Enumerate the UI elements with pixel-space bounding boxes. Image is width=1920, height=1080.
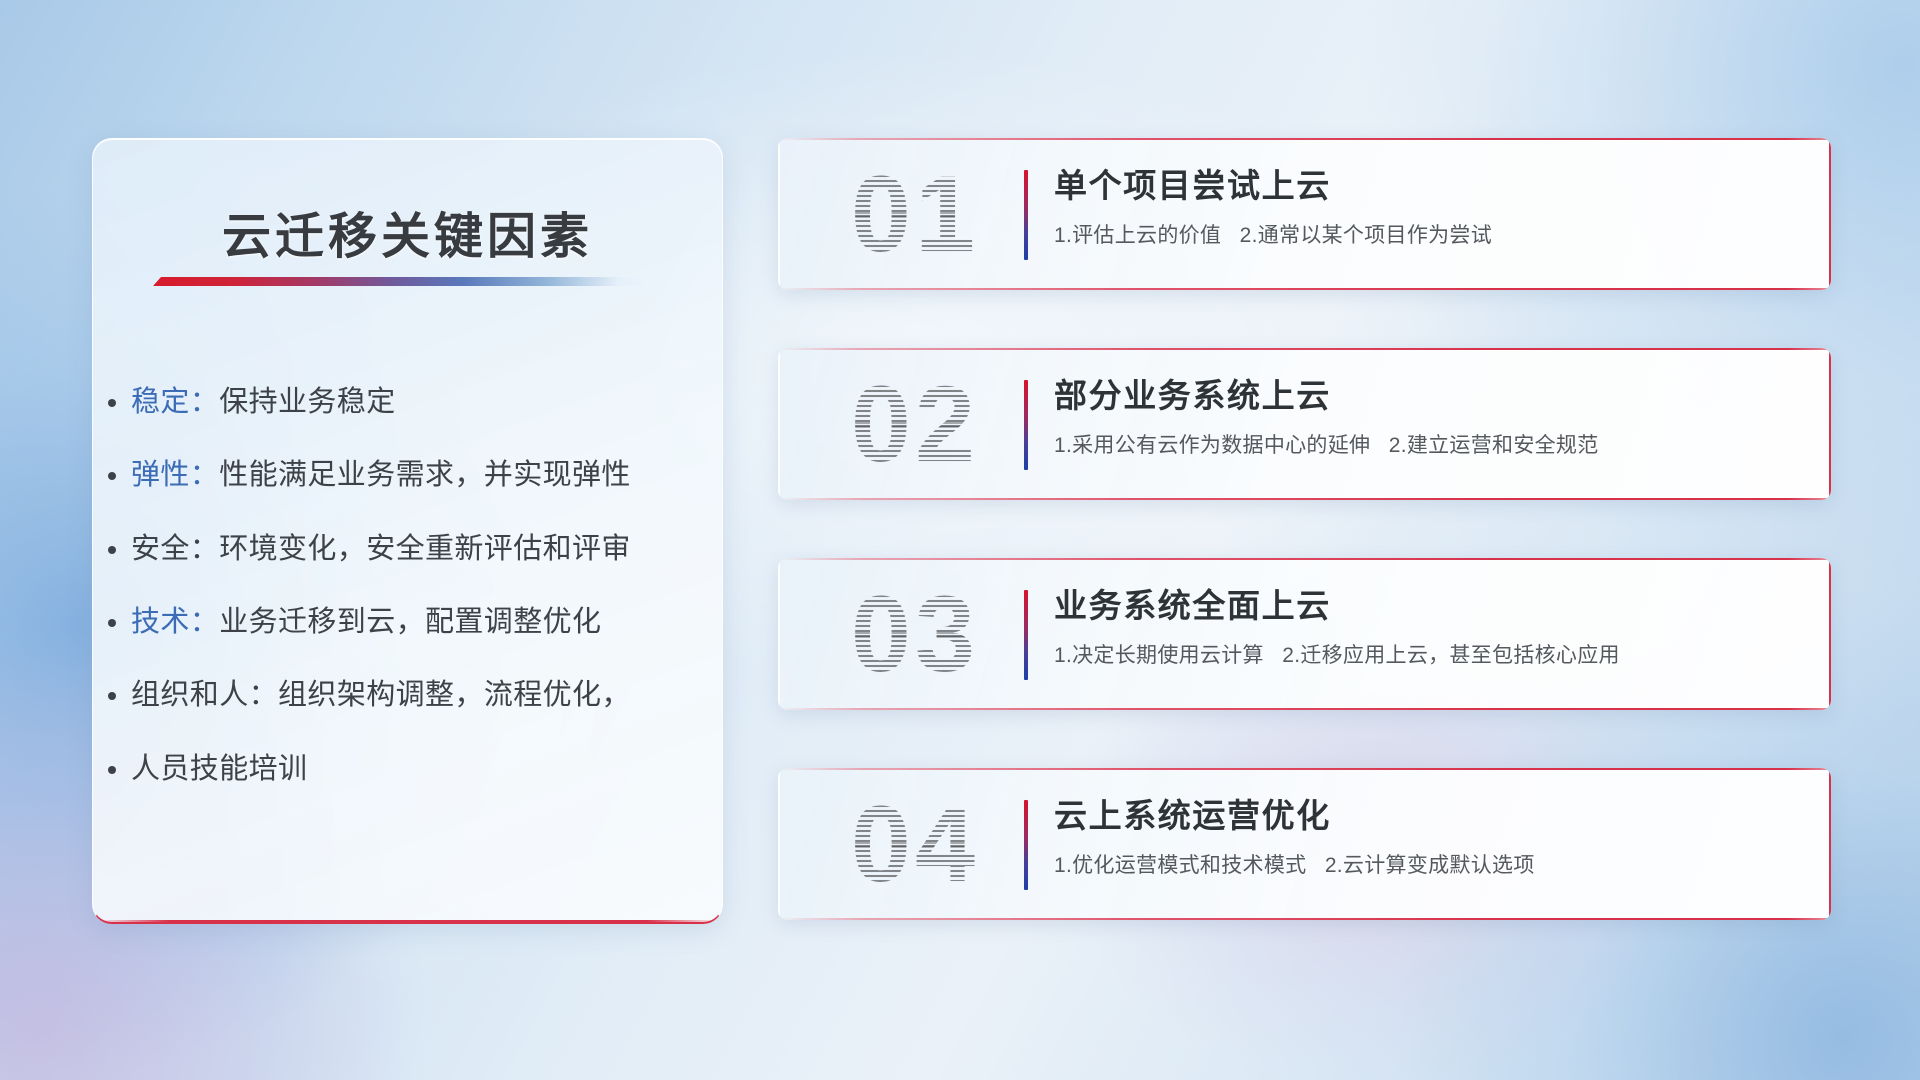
card-top-accent-line [778, 348, 1831, 350]
key-factor-text: 组织架构调整，流程优化， [278, 679, 631, 711]
card-bottom-accent-line [778, 708, 1831, 710]
stage-content: 单个项目尝试上云1.评估上云的价值 2.通常以某个项目作为尝试 [1054, 166, 1795, 249]
key-factors-list: 稳定：保持业务稳定弹性：性能满足业务需求，并实现弹性安全：环境变化，安全重新评估… [131, 381, 694, 790]
key-factor-text: 性能满足业务需求，并实现弹性 [219, 459, 631, 491]
stage-description: 1.评估上云的价值 2.通常以某个项目作为尝试 [1054, 222, 1795, 249]
key-factor-item: 人员技能培训 [131, 748, 694, 790]
card-left-edge [778, 770, 780, 918]
stage-number-watermark: 010101 [810, 150, 1020, 278]
stage-divider-bar [1024, 380, 1028, 470]
key-factor-text: 人员技能培训 [131, 753, 307, 785]
key-factor-label: 技术： [131, 606, 219, 638]
stage-heading: 单个项目尝试上云 [1054, 166, 1795, 206]
card-right-accent-line [1829, 768, 1831, 920]
card-right-accent-line [1829, 348, 1831, 500]
migration-stages-list: 010101单个项目尝试上云1.评估上云的价值 2.通常以某个项目作为尝试020… [778, 138, 1831, 920]
stage-heading: 云上系统运营优化 [1054, 796, 1795, 836]
key-factor-item: 稳定：保持业务稳定 [131, 381, 694, 423]
stage-number-striped: 01 [851, 160, 979, 268]
stage-number-watermark: 030303 [810, 570, 1020, 698]
stage-heading: 业务系统全面上云 [1054, 586, 1795, 626]
key-factors-panel: 云迁移关键因素 稳定：保持业务稳定弹性：性能满足业务需求，并实现弹性安全：环境变… [92, 138, 723, 924]
stage-description: 1.采用公有云作为数据中心的延伸 2.建立运营和安全规范 [1054, 432, 1795, 459]
card-top-accent-line [778, 558, 1831, 560]
card-bottom-accent-line [778, 288, 1831, 290]
stage-divider-bar [1024, 800, 1028, 890]
key-factor-label: 组织和人： [131, 679, 278, 711]
migration-stage-card[interactable]: 020202部分业务系统上云1.采用公有云作为数据中心的延伸 2.建立运营和安全… [778, 348, 1831, 500]
stage-content: 业务系统全面上云1.决定长期使用云计算 2.迁移应用上云，甚至包括核心应用 [1054, 586, 1795, 669]
card-bottom-accent-line [778, 918, 1831, 920]
stage-divider-bar [1024, 590, 1028, 680]
migration-stage-card[interactable]: 030303业务系统全面上云1.决定长期使用云计算 2.迁移应用上云，甚至包括核… [778, 558, 1831, 710]
stage-number-watermark: 020202 [810, 360, 1020, 488]
stage-content: 部分业务系统上云1.采用公有云作为数据中心的延伸 2.建立运营和安全规范 [1054, 376, 1795, 459]
card-left-edge [778, 350, 780, 498]
card-top-accent-line [778, 768, 1831, 770]
key-factor-item: 安全：环境变化，安全重新评估和评审 [131, 528, 694, 570]
stage-number-striped: 04 [851, 790, 979, 898]
key-factor-item: 组织和人：组织架构调整，流程优化， [131, 674, 694, 716]
stage-number-red-lines: 01 [851, 160, 979, 268]
stage-number-red-lines: 04 [851, 790, 979, 898]
key-factor-item: 弹性：性能满足业务需求，并实现弹性 [131, 454, 694, 496]
stage-divider-bar [1024, 170, 1028, 260]
stage-heading: 部分业务系统上云 [1054, 376, 1795, 416]
stage-number-blue-lines: 02 [851, 370, 979, 478]
stage-number-red-lines: 02 [851, 370, 979, 478]
stage-content: 云上系统运营优化1.优化运营模式和技术模式 2.云计算变成默认选项 [1054, 796, 1795, 879]
stage-number-striped: 03 [851, 580, 979, 688]
stage-number-blue-lines: 03 [851, 580, 979, 688]
key-factor-text: 环境变化，安全重新评估和评审 [219, 533, 631, 565]
card-right-accent-line [1829, 558, 1831, 710]
key-factor-text: 保持业务稳定 [219, 386, 395, 418]
stage-number-red-lines: 03 [851, 580, 979, 688]
key-factor-label: 稳定： [131, 386, 219, 418]
stage-description: 1.优化运营模式和技术模式 2.云计算变成默认选项 [1054, 852, 1795, 879]
migration-stage-card[interactable]: 010101单个项目尝试上云1.评估上云的价值 2.通常以某个项目作为尝试 [778, 138, 1831, 290]
key-factor-item: 技术：业务迁移到云，配置调整优化 [131, 601, 694, 643]
key-factor-label: 安全： [131, 533, 219, 565]
stage-number-blue-lines: 01 [851, 160, 979, 268]
page-title: 云迁移关键因素 [93, 197, 722, 268]
card-left-edge [778, 140, 780, 288]
card-top-accent-line [778, 138, 1831, 140]
key-factor-text: 业务迁移到云，配置调整优化 [219, 606, 601, 638]
key-factor-label: 弹性： [131, 459, 219, 491]
card-right-accent-line [1829, 138, 1831, 290]
title-underline-accent [153, 277, 653, 286]
slide-canvas: 云迁移关键因素 稳定：保持业务稳定弹性：性能满足业务需求，并实现弹性安全：环境变… [0, 0, 1920, 1080]
card-bottom-accent-line [778, 498, 1831, 500]
stage-number-blue-lines: 04 [851, 790, 979, 898]
card-left-edge [778, 560, 780, 708]
stage-number-watermark: 040404 [810, 780, 1020, 908]
stage-number-striped: 02 [851, 370, 979, 478]
stage-description: 1.决定长期使用云计算 2.迁移应用上云，甚至包括核心应用 [1054, 642, 1795, 669]
migration-stage-card[interactable]: 040404云上系统运营优化1.优化运营模式和技术模式 2.云计算变成默认选项 [778, 768, 1831, 920]
